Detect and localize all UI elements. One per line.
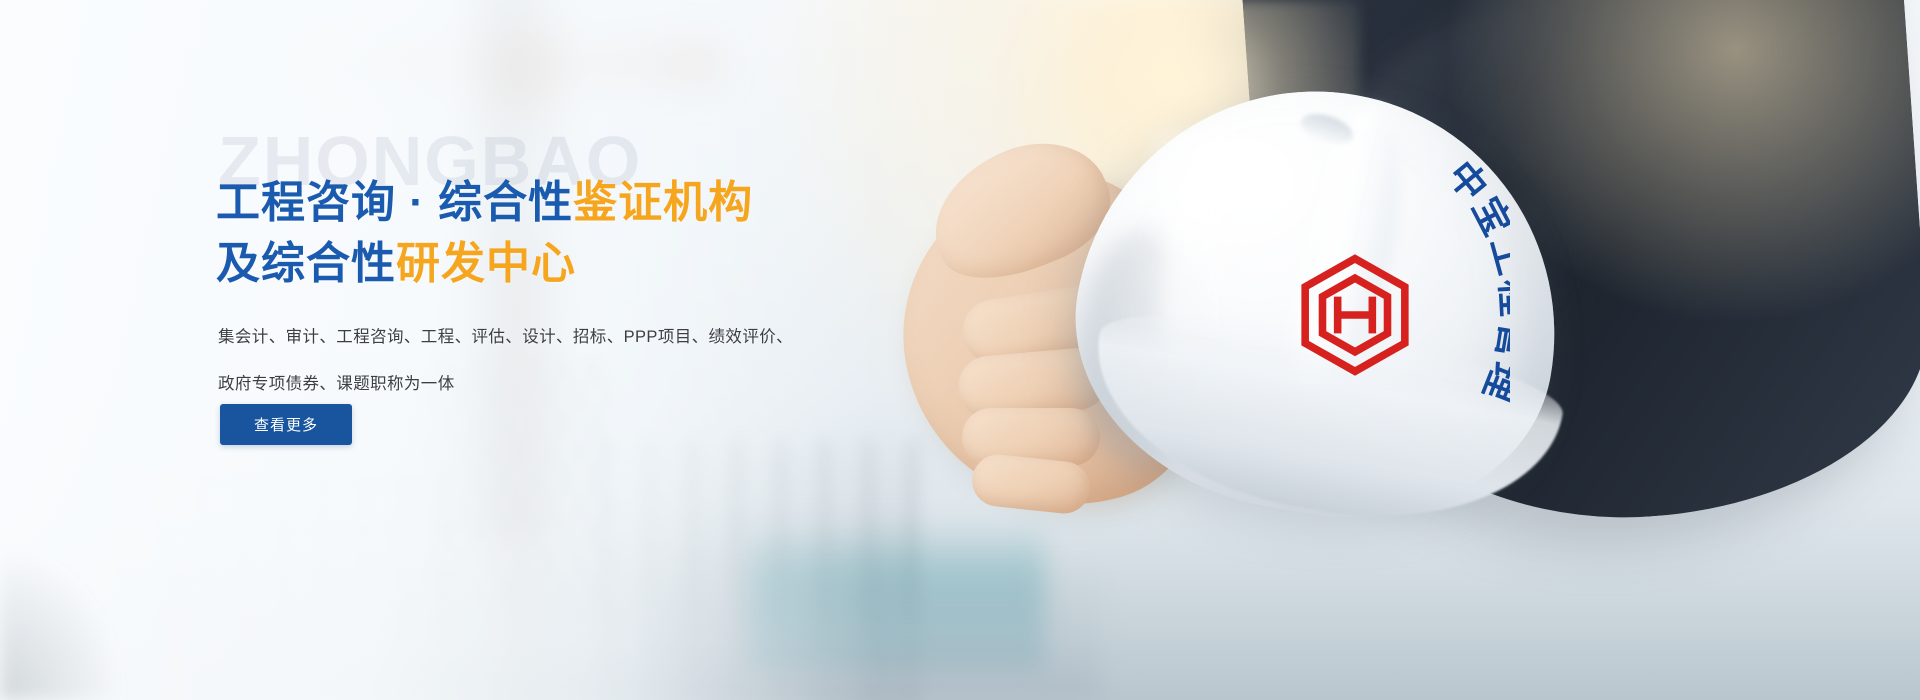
view-more-button[interactable]: 查看更多 — [220, 404, 352, 445]
headline-line-2: 及综合性研发中心 — [216, 233, 976, 294]
hard-hat-logo-arc-label: 中宝工程管理 — [1440, 154, 1510, 410]
headline: 工程咨询 · 综合性鉴证机构 及综合性研发中心 — [216, 172, 976, 294]
corner-vignette — [0, 550, 120, 700]
headline-line-2-primary: 及综合性 — [216, 239, 396, 288]
hexagon-monogram-icon — [1290, 250, 1420, 380]
banner-description-line-1: 集会计、审计、工程咨询、工程、评估、设计、招标、PPP项目、绩效评价、 — [218, 314, 818, 361]
headline-line-2-accent: 研发中心 — [396, 239, 576, 288]
hero-banner: 中宝工程管理 ZHONGBAO 工程咨询 · 综合性鉴证机构 及综合性研发中心 … — [0, 0, 1920, 700]
headline-line-1-primary: 工程咨询 · 综合性 — [216, 178, 573, 227]
banner-description: 集会计、审计、工程咨询、工程、评估、设计、招标、PPP项目、绩效评价、 政府专项… — [218, 314, 818, 408]
banner-description-line-2: 政府专项债券、课题职称为一体 — [218, 361, 818, 408]
headline-line-1: 工程咨询 · 综合性鉴证机构 — [216, 172, 976, 233]
hard-hat-logo: 中宝工程管理 — [1130, 120, 1510, 500]
headline-line-1-accent: 鉴证机构 — [573, 178, 753, 227]
